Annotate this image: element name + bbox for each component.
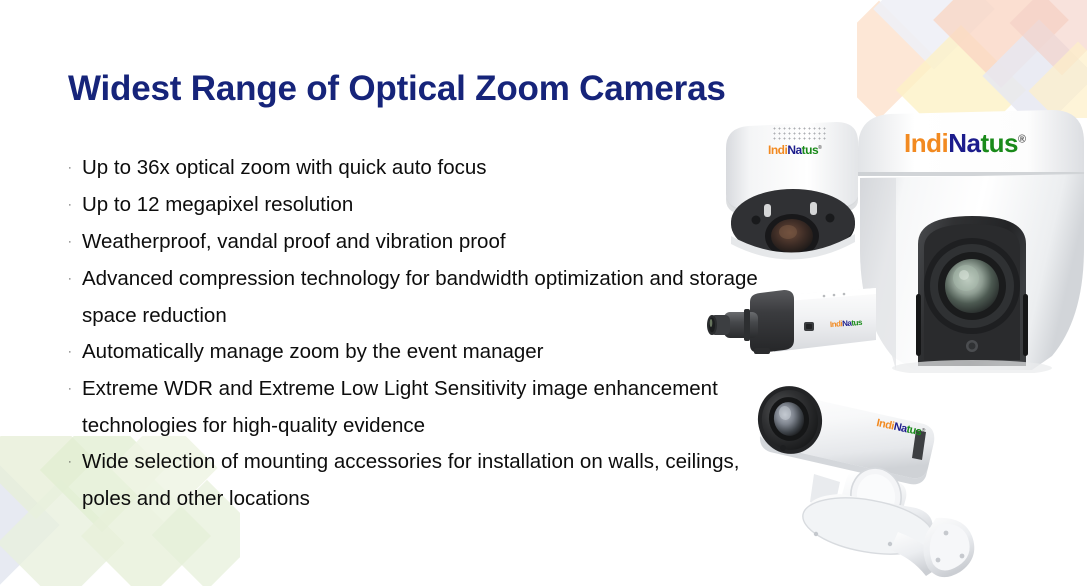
decor-diamond <box>982 19 1087 118</box>
brand-logo: IndiNatus® <box>768 144 821 156</box>
brand-logo-part2: Na <box>948 128 980 158</box>
brand-logo-part1: Indi <box>830 319 843 329</box>
decoration-top-right <box>857 0 1087 118</box>
bullet-marker-icon: · <box>64 334 82 371</box>
decor-diamond <box>0 464 60 586</box>
bullet-marker-icon: · <box>64 150 82 187</box>
ir-dot-pattern <box>772 126 828 140</box>
brand-registered-mark: ® <box>921 427 925 432</box>
bullet-marker-icon: · <box>64 371 82 408</box>
list-item-label: Extreme WDR and Extreme Low Light Sensit… <box>82 371 764 444</box>
brand-logo: IndiNatus® <box>904 130 1026 156</box>
list-item-label: Automatically manage zoom by the event m… <box>82 334 764 371</box>
ptz-dome-camera: IndiNatus® <box>856 108 1087 373</box>
brand-logo-part3: tus <box>851 318 862 328</box>
brand-logo-part1: Indi <box>904 128 948 158</box>
list-item: · Up to 12 megapixel resolution <box>64 187 764 224</box>
feature-bullet-list: · Up to 36x optical zoom with quick auto… <box>64 150 764 517</box>
list-item: · Automatically manage zoom by the event… <box>64 334 764 371</box>
list-item: · Weatherproof, vandal proof and vibrati… <box>64 224 764 261</box>
bullet-marker-icon: · <box>64 261 82 298</box>
ptz-bullet-camera: IndiNatus® <box>748 368 996 586</box>
bullet-marker-icon: · <box>64 444 82 481</box>
bullet-marker-icon: · <box>64 187 82 224</box>
slide-canvas: Widest Range of Optical Zoom Cameras · U… <box>0 0 1087 586</box>
page-title: Widest Range of Optical Zoom Cameras <box>68 69 726 109</box>
brand-logo-part3: tus <box>980 128 1018 158</box>
decor-diamond <box>896 25 1026 118</box>
decor-diamond <box>873 0 995 70</box>
ptz-bullet-camera-illustration <box>748 368 996 586</box>
brand-logo-part3: tus <box>802 143 819 157</box>
brand-logo-part1: Indi <box>768 143 787 157</box>
brand-registered-mark: ® <box>818 145 821 151</box>
decor-diamond <box>933 0 1069 88</box>
decor-diamond <box>857 1 938 118</box>
box-camera: IndiNatus <box>700 278 880 370</box>
list-item-label: Up to 12 megapixel resolution <box>82 187 764 224</box>
decor-diamond <box>1029 42 1087 118</box>
decor-diamond <box>1010 0 1087 75</box>
list-item-label: Weatherproof, vandal proof and vibration… <box>82 224 764 261</box>
dome-camera: IndiNatus® <box>718 112 878 262</box>
list-item: · Advanced compression technology for ba… <box>64 261 764 334</box>
brand-registered-mark: ® <box>1018 133 1026 145</box>
list-item: · Wide selection of mounting accessories… <box>64 444 764 517</box>
list-item-label: Up to 36x optical zoom with quick auto f… <box>82 150 764 187</box>
list-item-label: Advanced compression technology for band… <box>82 261 764 334</box>
bullet-marker-icon: · <box>64 224 82 261</box>
list-item-label: Wide selection of mounting accessories f… <box>82 444 764 517</box>
brand-logo-part2: Na <box>787 143 801 157</box>
list-item: · Extreme WDR and Extreme Low Light Sens… <box>64 371 764 444</box>
list-item: · Up to 36x optical zoom with quick auto… <box>64 150 764 187</box>
